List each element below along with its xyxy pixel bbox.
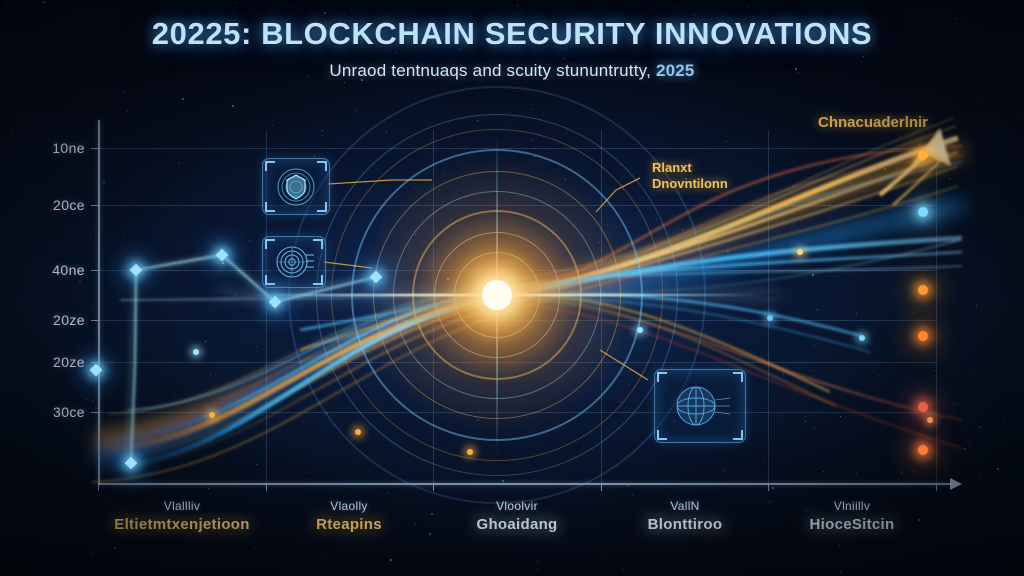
- shield-radar-icon[interactable]: [262, 158, 330, 215]
- endpoint-node[interactable]: [918, 445, 928, 455]
- particle-glow: [927, 417, 933, 423]
- callout-line-2: Dnovntilonn: [652, 176, 728, 192]
- particle-glow: [355, 429, 361, 435]
- center-callout-label: Rlanxt Dnovntilonn: [652, 160, 728, 193]
- particle-glow: [637, 327, 643, 333]
- infographic-canvas: 10ne20ce40ne20ze20ze30ceVlalllivEltietmt…: [0, 0, 1024, 576]
- globe-network-icon[interactable]: [654, 369, 746, 443]
- energy-ribbons: [0, 0, 1024, 576]
- particle-glow: [797, 249, 803, 255]
- fingerprint-scan-icon[interactable]: [262, 236, 326, 288]
- trend-arrow-label: Chnacuaderlnir: [818, 114, 928, 133]
- page-title: 20225: BLOCKCHAIN SECURITY INNOVATIONS: [0, 16, 1024, 52]
- callout-line-1: Rlanxt: [652, 160, 728, 176]
- fingerprint-glyph: [272, 243, 316, 281]
- globe-glyph: [666, 378, 734, 434]
- particle-glow: [767, 315, 773, 321]
- particle-glow: [209, 412, 215, 418]
- header: 20225: BLOCKCHAIN SECURITY INNOVATIONS U…: [0, 16, 1024, 81]
- particle-glow: [467, 449, 473, 455]
- page-subtitle: Unraod tentnuaqs and scuity stununtrutty…: [0, 61, 1024, 81]
- particle-glow: [859, 335, 865, 341]
- subtitle-year: 2025: [656, 61, 695, 80]
- trend-arrow-label-text: Chnacuaderlnir: [818, 114, 928, 131]
- subtitle-text: Unraod tentnuaqs and scuity stununtrutty…: [329, 61, 651, 80]
- shield-glyph: [272, 166, 320, 208]
- particle-glow: [193, 349, 199, 355]
